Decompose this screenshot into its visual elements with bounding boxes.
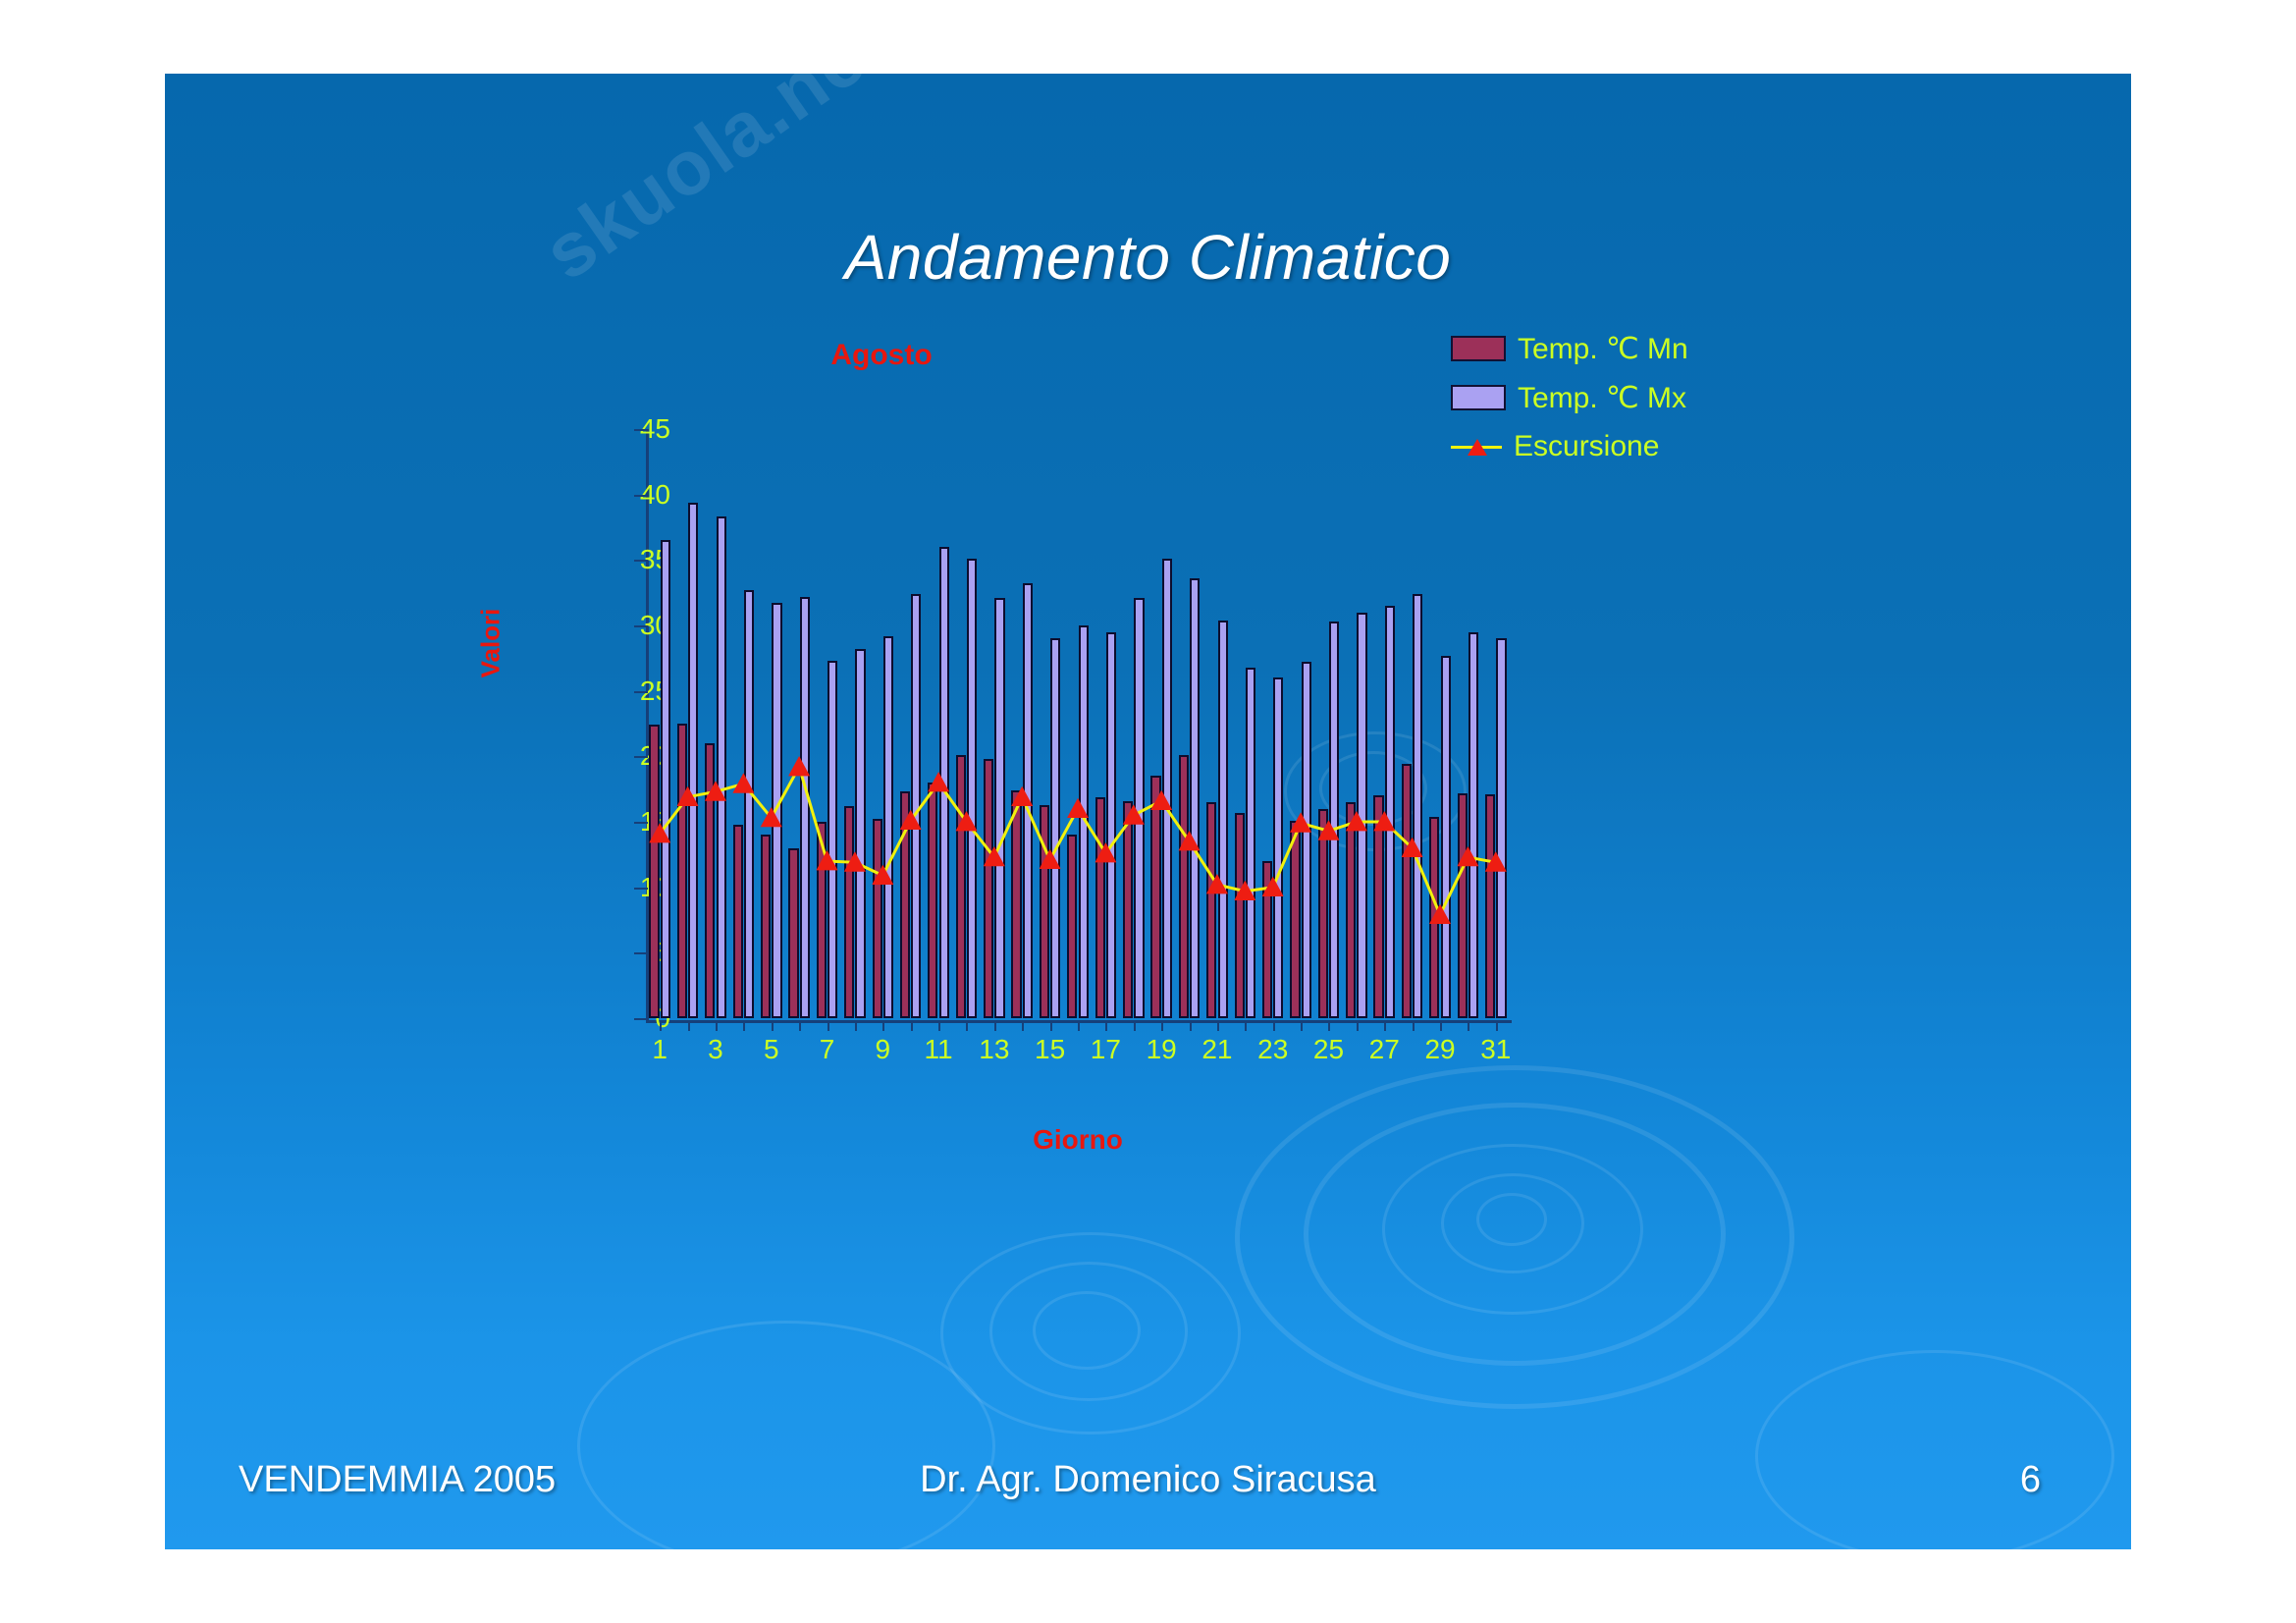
x-axis-tick-mark (1468, 1020, 1469, 1031)
x-axis-tick-mark (716, 1020, 718, 1031)
escursione-marker (1067, 798, 1089, 818)
x-axis-tick-mark (1301, 1020, 1303, 1031)
escursione-marker (1011, 786, 1033, 806)
escursione-marker (1206, 874, 1228, 893)
x-axis-tick-label: 19 (1132, 1034, 1191, 1065)
x-axis-tick-mark (882, 1020, 884, 1031)
legend-swatch-icon (1451, 336, 1506, 361)
x-axis-tick-mark (688, 1020, 690, 1031)
x-axis-tick-label: 3 (686, 1034, 745, 1065)
page-title: Andamento Climatico (165, 221, 2131, 294)
escursione-marker (1179, 831, 1201, 850)
escursione-marker (732, 773, 754, 792)
x-axis-tick-label: 31 (1467, 1034, 1525, 1065)
x-axis-tick-mark (772, 1020, 774, 1031)
x-axis-tick-mark (1440, 1020, 1442, 1031)
x-axis-tick-label: 11 (909, 1034, 968, 1065)
x-axis-tick-mark (1105, 1020, 1107, 1031)
x-axis-tick-mark (1217, 1020, 1219, 1031)
escursione-line-series (646, 429, 1510, 1018)
x-axis-tick-mark (938, 1020, 940, 1031)
x-axis-tick-mark (828, 1020, 829, 1031)
legend-item-temp-max: Temp. ℃ Mx (1451, 373, 1804, 422)
escursione-marker (928, 772, 949, 791)
x-axis-tick-mark (1273, 1020, 1275, 1031)
escursione-marker (1095, 842, 1116, 862)
x-axis-tick-mark (1357, 1020, 1359, 1031)
escursione-marker (1040, 849, 1061, 869)
y-axis-label: Valori (476, 609, 507, 678)
x-axis-tick-mark (911, 1020, 913, 1031)
y-axis-tick-mark (634, 1018, 648, 1020)
legend-label: Temp. ℃ Mn (1518, 332, 1688, 366)
x-axis-tick-mark (1161, 1020, 1163, 1031)
x-axis-tick-label: 27 (1355, 1034, 1414, 1065)
x-axis-tick-label: 9 (853, 1034, 912, 1065)
page-number: 6 (2020, 1459, 2041, 1501)
x-axis-tick-mark (1190, 1020, 1192, 1031)
escursione-marker (1262, 877, 1284, 896)
escursione-marker (1150, 790, 1172, 810)
escursione-marker (788, 756, 810, 776)
x-axis-tick-mark (1496, 1020, 1498, 1031)
legend-swatch-icon (1451, 385, 1506, 410)
escursione-polyline (660, 767, 1496, 915)
chart-title: Agosto (538, 339, 1225, 372)
x-axis-tick-label: 7 (798, 1034, 857, 1065)
x-axis-tick-label: 23 (1244, 1034, 1303, 1065)
escursione-marker (1290, 812, 1311, 832)
x-axis-tick-label: 15 (1021, 1034, 1080, 1065)
plot-area (646, 429, 1510, 1018)
x-axis-tick-mark (1022, 1020, 1024, 1031)
x-axis-tick-mark (743, 1020, 745, 1031)
x-axis-tick-label: 1 (630, 1034, 689, 1065)
x-axis-label: Giorno (646, 1124, 1510, 1156)
climate-chart: Agosto Temp. ℃ Mn Temp. ℃ Mx Escursione … (538, 349, 1814, 1389)
x-axis-tick-label: 29 (1411, 1034, 1469, 1065)
legend-item-temp-min: Temp. ℃ Mn (1451, 324, 1804, 373)
x-axis-tick-mark (994, 1020, 996, 1031)
x-axis-tick-mark (1384, 1020, 1386, 1031)
escursione-marker (872, 865, 893, 885)
slide-footer: VENDEMMIA 2005 Dr. Agr. Domenico Siracus… (165, 1459, 2131, 1508)
x-axis-tick-mark (799, 1020, 801, 1031)
x-axis-tick-mark (855, 1020, 857, 1031)
escursione-marker (900, 810, 922, 830)
x-axis-tick-label: 25 (1299, 1034, 1358, 1065)
x-axis-tick-mark (1413, 1020, 1415, 1031)
escursione-marker (956, 811, 978, 831)
x-axis-tick-label: 21 (1188, 1034, 1247, 1065)
x-axis-tick-label: 13 (965, 1034, 1024, 1065)
x-axis-tick-mark (966, 1020, 968, 1031)
slide-canvas: skuola.net Andamento Climatico Agosto Te… (165, 74, 2131, 1549)
x-axis-tick-mark (1134, 1020, 1136, 1031)
escursione-marker (1429, 904, 1451, 924)
legend-label: Temp. ℃ Mx (1518, 381, 1686, 415)
x-axis-tick-label: 5 (742, 1034, 801, 1065)
x-axis-tick-mark (1078, 1020, 1080, 1031)
x-axis-tick-label: 17 (1076, 1034, 1135, 1065)
x-axis-tick-mark (660, 1020, 662, 1031)
escursione-marker (1123, 804, 1145, 824)
escursione-marker (1457, 846, 1478, 866)
legend-label: Escursione (1514, 430, 1659, 463)
x-axis-tick-mark (1245, 1020, 1247, 1031)
x-axis-tick-mark (1050, 1020, 1052, 1031)
x-axis-tick-mark (1328, 1020, 1330, 1031)
footer-center-text: Dr. Agr. Domenico Siracusa (165, 1459, 2131, 1501)
